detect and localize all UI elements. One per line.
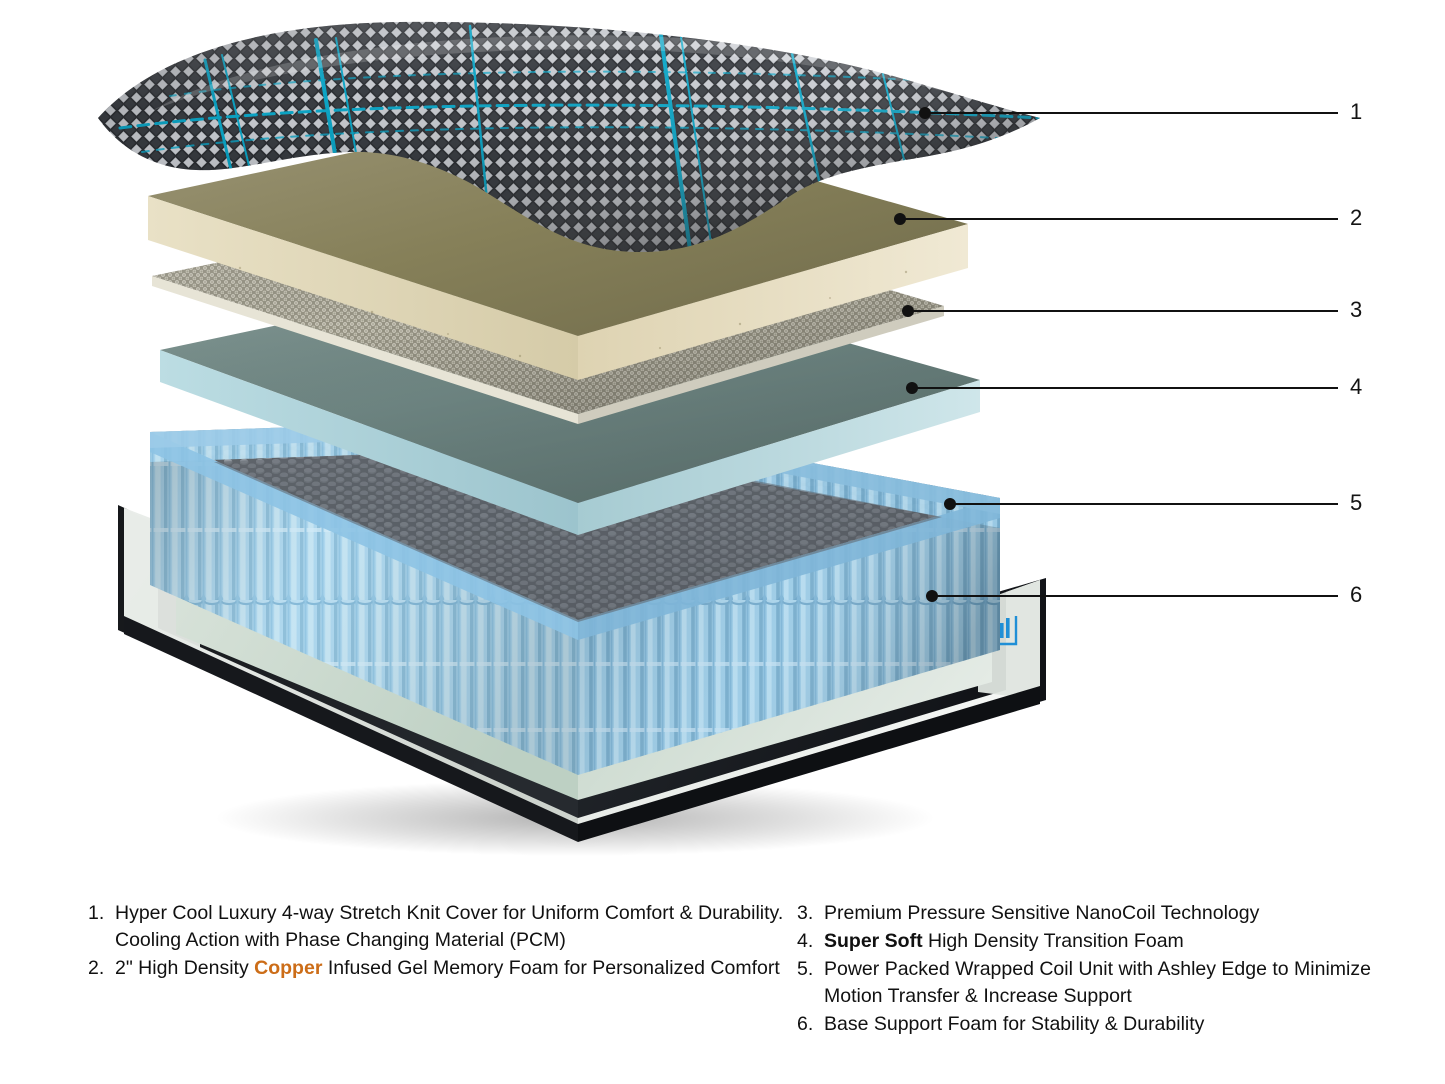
legend-item-number: 3. [797, 900, 824, 927]
legend-text-segment: Super Soft [824, 930, 923, 952]
legend-item-text: Hyper Cool Luxury 4-way Stretch Knit Cov… [115, 900, 788, 954]
legend-text-segment: 2" High Density [115, 957, 254, 979]
callout-number-2: 2 [1350, 207, 1362, 229]
legend-item-number: 1. [88, 900, 115, 927]
legend-item-text: Power Packed Wrapped Coil Unit with Ashl… [824, 956, 1377, 1010]
mattress-diagram: 1 2 3 4 5 6 [0, 0, 1445, 880]
legend-text-segment: Premium Pressure Sensitive NanoCoil Tech… [824, 902, 1259, 924]
callout-number-3: 3 [1350, 299, 1362, 321]
legend-item-text: Premium Pressure Sensitive NanoCoil Tech… [824, 900, 1377, 927]
legend-item: 1.Hyper Cool Luxury 4-way Stretch Knit C… [88, 900, 788, 954]
callout-number-6: 6 [1350, 584, 1362, 606]
legend-item-number: 5. [797, 956, 824, 983]
legend-item: 2.2" High Density Copper Infused Gel Mem… [88, 955, 788, 982]
legend-column-left: 1.Hyper Cool Luxury 4-way Stretch Knit C… [88, 900, 788, 983]
legend-item-text: 2" High Density Copper Infused Gel Memor… [115, 955, 788, 982]
legend-text-segment: Power Packed Wrapped Coil Unit with Ashl… [824, 958, 1371, 1007]
mattress-exploded-illustration [0, 0, 1445, 880]
legend-item-number: 2. [88, 955, 115, 982]
callout-number-1: 1 [1350, 101, 1362, 123]
leader-3 [902, 305, 1338, 317]
legend-text-segment: High Density Transition Foam [923, 930, 1184, 952]
callout-number-5: 5 [1350, 492, 1362, 514]
legend-item: 3.Premium Pressure Sensitive NanoCoil Te… [797, 900, 1377, 927]
legend-text-segment: Copper [254, 957, 322, 979]
legend-item: 5.Power Packed Wrapped Coil Unit with As… [797, 956, 1377, 1010]
leader-5 [944, 498, 1338, 510]
legend-column-right: 3.Premium Pressure Sensitive NanoCoil Te… [797, 900, 1377, 1039]
legend-item: 4.Super Soft High Density Transition Foa… [797, 928, 1377, 955]
legend-item-text: Base Support Foam for Stability & Durabi… [824, 1011, 1377, 1038]
callout-number-4: 4 [1350, 376, 1362, 398]
legend-text-segment: Hyper Cool Luxury 4-way Stretch Knit Cov… [115, 902, 783, 951]
legend-item-number: 6. [797, 1011, 824, 1038]
legend-item-number: 4. [797, 928, 824, 955]
legend-item-text: Super Soft High Density Transition Foam [824, 928, 1377, 955]
legend-text-segment: Base Support Foam for Stability & Durabi… [824, 1013, 1204, 1035]
legend-item: 6.Base Support Foam for Stability & Dura… [797, 1011, 1377, 1038]
legend-text-segment: Infused Gel Memory Foam for Personalized… [322, 957, 779, 979]
